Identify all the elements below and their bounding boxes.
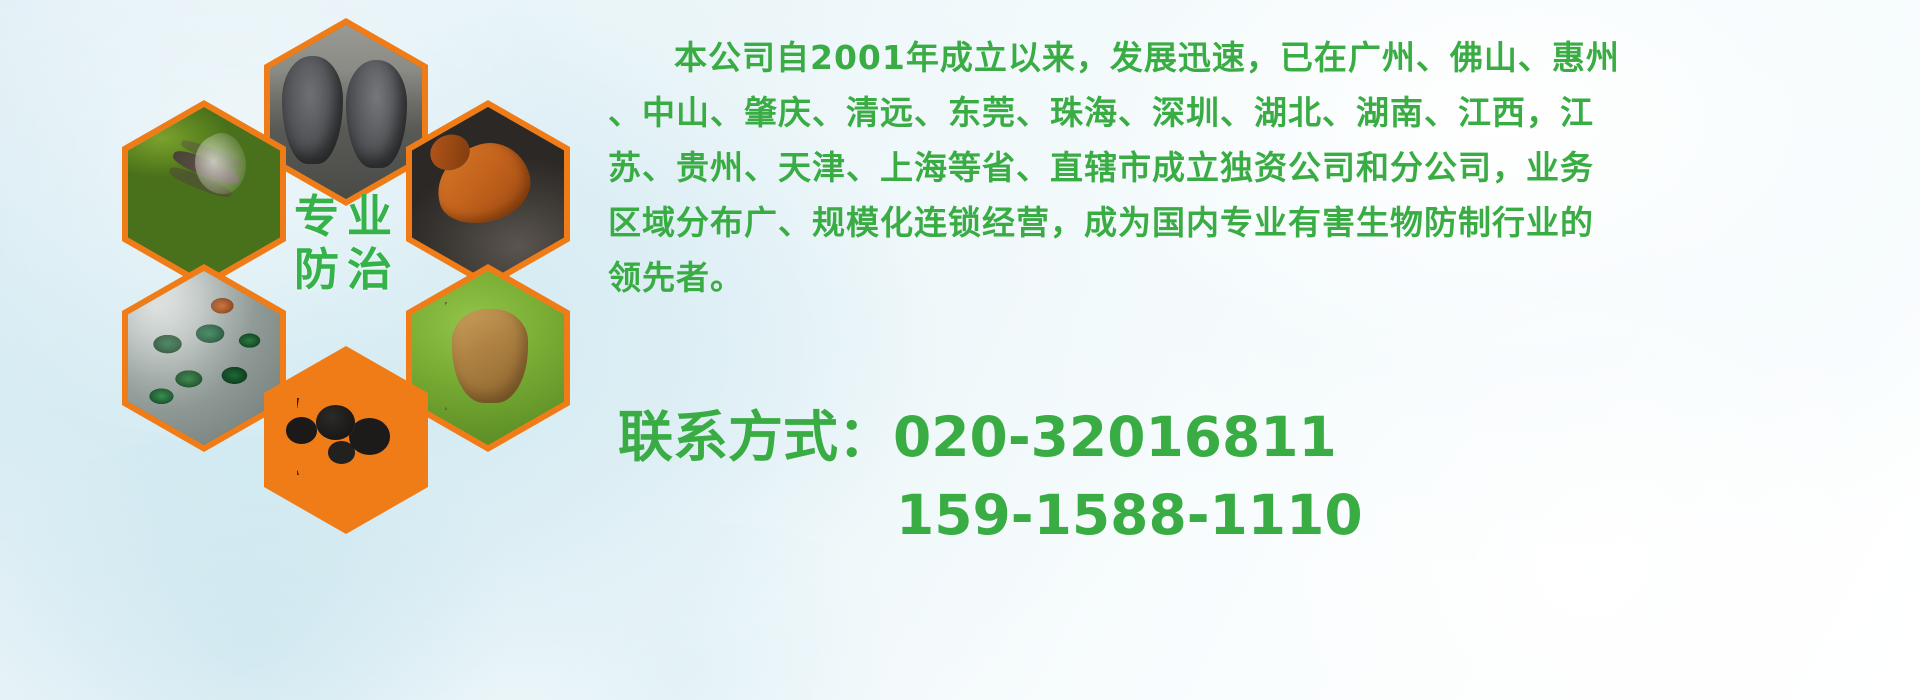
banner-root: 专业 防治 本公司自2001年成立以来，发展迅速，已在广州、佛山、惠州 、中山、…: [0, 0, 1920, 700]
honeycomb-center-label: 专业 防治: [258, 190, 436, 296]
hex-photo-ant-clip: [270, 353, 422, 527]
description-line-5: 领先者。: [608, 250, 1888, 305]
contact-phone-primary[interactable]: 020-32016811: [893, 405, 1337, 469]
description-line-4: 区域分布广、规模化连锁经营，成为国内专业有害生物防制行业的: [608, 195, 1888, 250]
description-line-2: 、中山、肇庆、清远、东莞、珠海、深圳、湖北、湖南、江西，江: [608, 85, 1888, 140]
contact-block: 联系方式：020-32016811 159-1588-1110: [618, 398, 1858, 554]
contact-row-secondary: 159-1588-1110: [618, 476, 1858, 554]
description-line-3: 苏、贵州、天津、上海等省、直辖市成立独资公司和分公司，业务: [608, 140, 1888, 195]
contact-phone-secondary[interactable]: 159-1588-1110: [896, 483, 1363, 547]
contact-label: 联系方式：: [618, 405, 893, 469]
rats-image: [270, 25, 422, 199]
hex-photo-flies-clip: [128, 271, 280, 445]
ant-image: [270, 353, 422, 527]
hex-photo-rats: [264, 18, 428, 206]
honeycomb-label-line2: 防治: [258, 243, 436, 296]
hex-photo-ant: [264, 346, 428, 534]
stinkbug-image: [412, 271, 564, 445]
hex-photo-stinkbug-clip: [412, 271, 564, 445]
honeycomb-collage: 专业 防治: [88, 4, 588, 564]
company-description: 本公司自2001年成立以来，发展迅速，已在广州、佛山、惠州 、中山、肇庆、清远、…: [608, 30, 1888, 305]
contact-row-primary: 联系方式：020-32016811: [618, 398, 1858, 476]
hex-photo-rats-clip: [270, 25, 422, 199]
description-line-1: 本公司自2001年成立以来，发展迅速，已在广州、佛山、惠州: [608, 30, 1888, 85]
honeycomb-label-line1: 专业: [294, 190, 400, 243]
flies-image: [128, 271, 280, 445]
